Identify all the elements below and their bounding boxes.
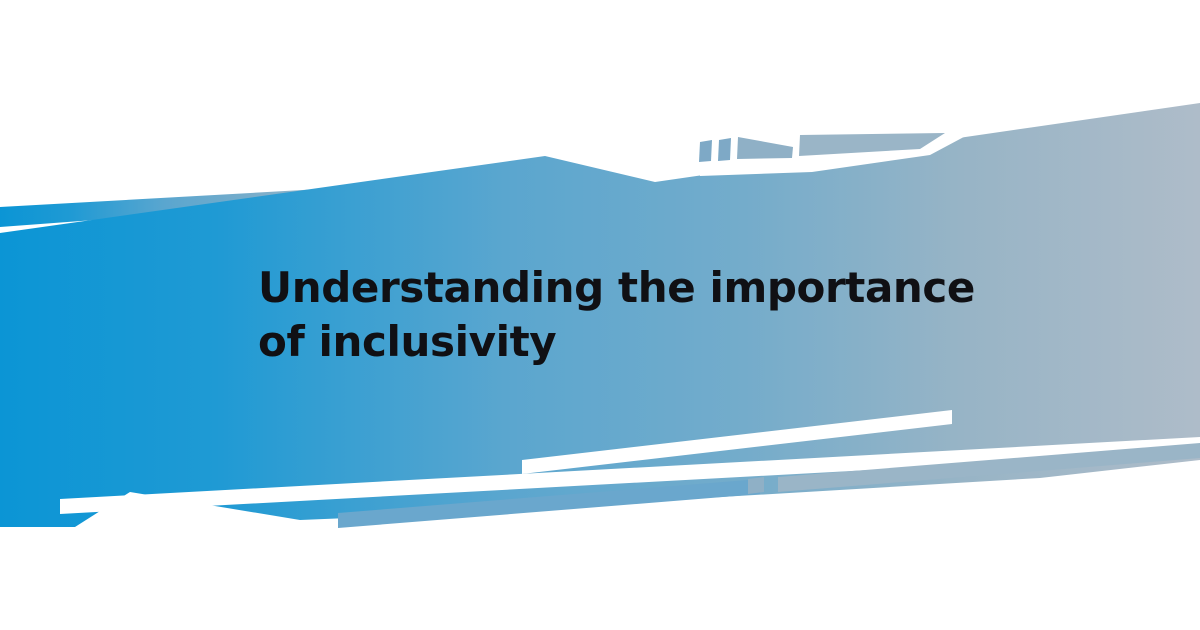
banner-card: Understanding the importance of inclusiv… <box>0 0 1200 630</box>
title-layer: Understanding the importance of inclusiv… <box>0 0 1200 630</box>
page-title: Understanding the importance of inclusiv… <box>0 261 975 369</box>
